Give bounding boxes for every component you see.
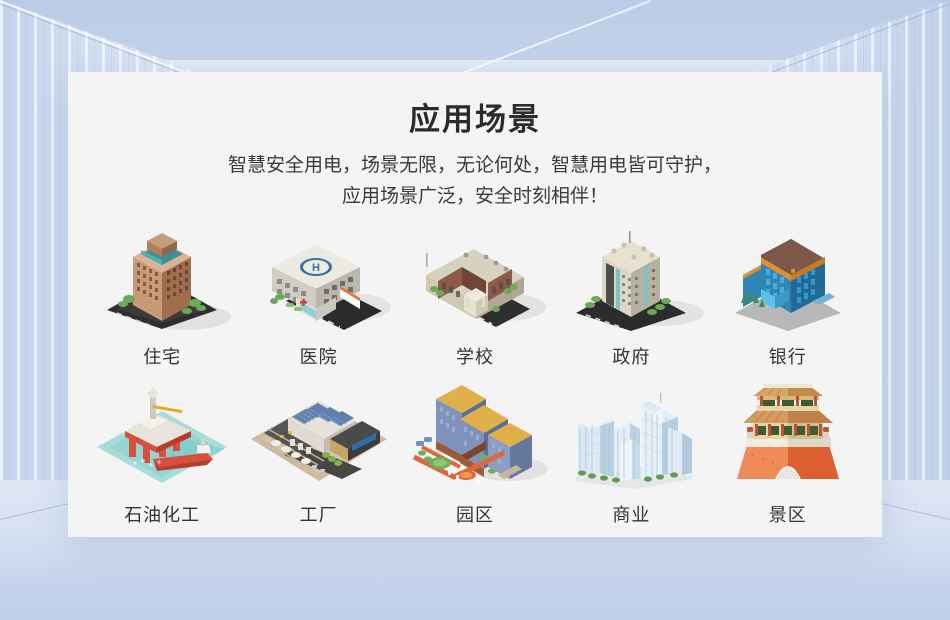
- scene-item-hospital[interactable]: H: [240, 227, 396, 369]
- scene-label: 石油化工: [124, 501, 200, 527]
- scene-grid-row-2: 石油化工: [68, 383, 882, 527]
- industrial-park-icon: [400, 383, 550, 495]
- scene-label: 学校: [456, 343, 494, 369]
- scene-label: 银行: [769, 343, 807, 369]
- scene-item-residential[interactable]: 住宅: [84, 227, 240, 369]
- bank-icon: [713, 227, 863, 337]
- scene-item-factory[interactable]: 工厂: [240, 383, 396, 527]
- scene-item-petrochemical[interactable]: 石油化工: [84, 383, 240, 527]
- scene-label: 医院: [300, 343, 338, 369]
- page-title: 应用场景: [68, 72, 882, 139]
- scene-grid-row-1: 住宅 H: [68, 227, 882, 369]
- commercial-skyline-icon: [556, 383, 706, 495]
- page-subtitle: 智慧安全用电，场景无限，无论何处，智慧用电皆可守护， 应用场景广泛，安全时刻相伴…: [165, 151, 785, 213]
- subtitle-line-1: 智慧安全用电，场景无限，无论何处，智慧用电皆可守护，: [165, 151, 785, 182]
- hospital-icon: H: [244, 227, 394, 337]
- oil-platform-icon: [87, 383, 237, 495]
- scenic-gate-tower-icon: [713, 383, 863, 495]
- scene-item-scenic[interactable]: 景区: [710, 383, 866, 527]
- scene-label: 工厂: [300, 501, 338, 527]
- scene-label: 住宅: [143, 343, 181, 369]
- residential-tower-icon: [87, 227, 237, 337]
- school-icon: [400, 227, 550, 337]
- subtitle-line-2: 应用场景广泛，安全时刻相伴！: [165, 182, 785, 213]
- svg-text:H: H: [312, 262, 320, 274]
- scene-item-commercial[interactable]: 商业: [553, 383, 709, 527]
- scene-label: 园区: [456, 501, 494, 527]
- factory-icon: [244, 383, 394, 495]
- page-stage: 应用场景 智慧安全用电，场景无限，无论何处，智慧用电皆可守护， 应用场景广泛，安…: [0, 0, 950, 620]
- scene-item-bank[interactable]: 银行: [710, 227, 866, 369]
- content-card: 应用场景 智慧安全用电，场景无限，无论何处，智慧用电皆可守护， 应用场景广泛，安…: [68, 72, 882, 537]
- scene-item-school[interactable]: 学校: [397, 227, 553, 369]
- scene-item-park[interactable]: 园区: [397, 383, 553, 527]
- scene-label: 商业: [612, 501, 650, 527]
- government-tower-icon: [556, 227, 706, 337]
- scene-item-government[interactable]: 政府: [553, 227, 709, 369]
- scene-label: 政府: [612, 343, 650, 369]
- scene-label: 景区: [769, 501, 807, 527]
